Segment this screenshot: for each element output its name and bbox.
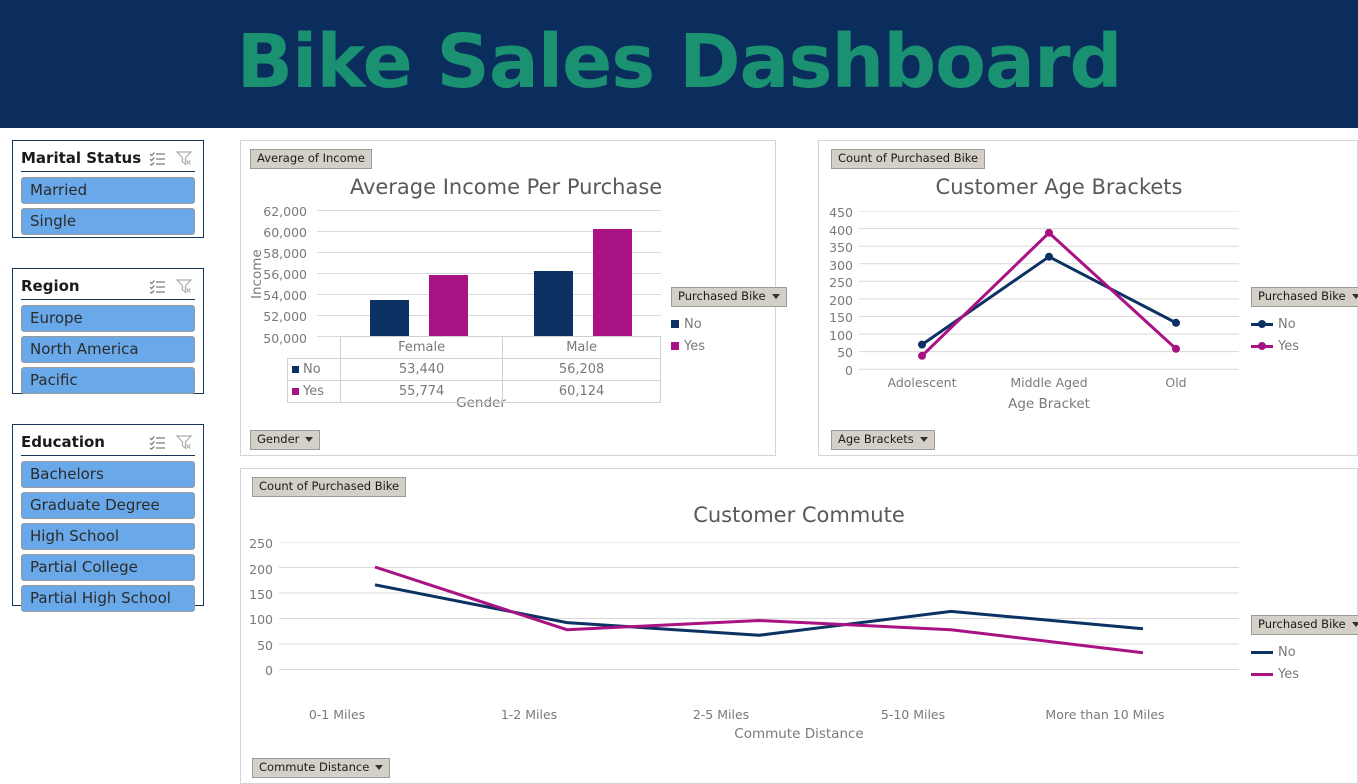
field-button-purchased-bike[interactable]: Purchased Bike	[671, 287, 787, 307]
y-tick-commute-1: 50	[241, 638, 273, 653]
x-axis-title-age: Age Bracket	[919, 396, 1179, 412]
bar-female-no	[370, 300, 409, 336]
series-swatch-yes	[292, 388, 299, 395]
page-title: Bike Sales Dashboard	[0, 14, 1358, 110]
field-button-gender[interactable]: Gender	[250, 430, 320, 450]
y-tick-age-5: 250	[819, 275, 853, 290]
x-tick-commute-3: 5-10 Miles	[853, 707, 973, 722]
chart-panel-commute: Count of Purchased Bike Commute Distance…	[240, 468, 1358, 784]
x-tick-commute-4: More than 10 Miles	[1027, 707, 1183, 722]
dashboard-header: Bike Sales Dashboard	[0, 0, 1358, 128]
y-tick-commute-2: 100	[241, 612, 273, 627]
slicer-item-partial-college[interactable]: Partial College	[21, 554, 195, 581]
slicer-header: Education	[21, 429, 195, 456]
y-tick-income-1: 52,000	[255, 309, 307, 324]
clear-filter-icon[interactable]	[173, 276, 195, 296]
table-key-no: No	[288, 359, 341, 381]
clear-filter-icon[interactable]	[173, 432, 195, 452]
multi-select-icon[interactable]	[147, 432, 169, 452]
y-tick-income-5: 60,000	[255, 225, 307, 240]
field-button-count-of-purchased-bike[interactable]: Count of Purchased Bike	[252, 477, 406, 497]
y-tick-age-6: 300	[819, 258, 853, 273]
multi-select-icon[interactable]	[147, 148, 169, 168]
legend-item-yes[interactable]: Yes	[1251, 663, 1358, 685]
slicer-education[interactable]: Education Bachelors Graduate Degree High…	[12, 424, 204, 606]
field-button-label: Purchased Bike	[678, 290, 766, 303]
field-button-average-of-income[interactable]: Average of Income	[250, 149, 372, 169]
slicer-item-bachelors[interactable]: Bachelors	[21, 461, 195, 488]
legend-age: Purchased Bike No Yes	[1251, 285, 1358, 357]
slicer-item-pacific[interactable]: Pacific	[21, 367, 195, 394]
slicer-item-partial-high-school[interactable]: Partial High School	[21, 585, 195, 612]
plot-area-commute	[279, 542, 1239, 670]
y-tick-age-2: 100	[819, 328, 853, 343]
field-button-label: Age Brackets	[838, 433, 914, 446]
table-cell-no-female: 53,440	[341, 359, 503, 381]
slicer-title: Region	[21, 277, 143, 295]
legend-swatch-no	[1251, 323, 1273, 326]
bar-male-yes	[593, 229, 632, 336]
legend-swatch-yes	[1251, 345, 1273, 348]
table-cell-no-male: 56,208	[503, 359, 661, 381]
x-tick-age-1: Middle Aged	[989, 375, 1109, 390]
field-button-label: Gender	[257, 433, 299, 446]
field-button-purchased-bike[interactable]: Purchased Bike	[1251, 287, 1358, 307]
field-button-count-of-purchased-bike[interactable]: Count of Purchased Bike	[831, 149, 985, 169]
legend-item-no[interactable]: No	[1251, 313, 1358, 335]
legend-swatch-no	[1251, 651, 1273, 654]
y-tick-income-6: 62,000	[255, 204, 307, 219]
chevron-down-icon	[772, 294, 780, 299]
table-header-male: Male	[503, 337, 661, 359]
bar-male-no	[534, 271, 573, 336]
legend-swatch-no	[671, 320, 679, 328]
slicer-header: Marital Status	[21, 145, 195, 172]
chart-title-age: Customer Age Brackets	[859, 175, 1259, 199]
y-tick-age-3: 150	[819, 310, 853, 325]
legend-label-no: No	[1278, 317, 1296, 332]
field-button-label: Purchased Bike	[1258, 618, 1346, 631]
series-swatch-no	[292, 366, 299, 373]
plot-area-age	[859, 211, 1239, 377]
x-tick-age-0: Adolescent	[862, 375, 982, 390]
x-tick-commute-1: 1-2 Miles	[469, 707, 589, 722]
y-tick-age-8: 400	[819, 223, 853, 238]
slicer-item-high-school[interactable]: High School	[21, 523, 195, 550]
slicer-item-north-america[interactable]: North America	[21, 336, 195, 363]
chart-title-commute: Customer Commute	[499, 503, 1099, 527]
x-tick-commute-2: 2-5 Miles	[661, 707, 781, 722]
slicer-title: Education	[21, 433, 143, 451]
slicer-item-single[interactable]: Single	[21, 208, 195, 235]
field-button-purchased-bike[interactable]: Purchased Bike	[1251, 615, 1358, 635]
bar-female-yes	[429, 275, 468, 336]
slicer-item-married[interactable]: Married	[21, 177, 195, 204]
legend-item-no[interactable]: No	[1251, 641, 1358, 663]
y-tick-income-2: 54,000	[255, 288, 307, 303]
y-tick-income-3: 56,000	[255, 267, 307, 282]
x-tick-commute-0: 0-1 Miles	[277, 707, 397, 722]
y-tick-age-9: 450	[819, 205, 853, 220]
table-cell-yes-male: 60,124	[503, 381, 661, 403]
y-tick-commute-4: 200	[241, 562, 273, 577]
legend-label-no: No	[1278, 645, 1296, 660]
field-button-label: Average of Income	[257, 152, 365, 165]
field-button-label: Count of Purchased Bike	[259, 480, 399, 493]
legend-commute: Purchased Bike No Yes	[1251, 613, 1358, 685]
slicer-item-graduate-degree[interactable]: Graduate Degree	[21, 492, 195, 519]
slicer-header: Region	[21, 273, 195, 300]
chevron-down-icon	[920, 437, 928, 442]
legend-label-yes: Yes	[1278, 339, 1299, 354]
chevron-down-icon	[375, 765, 383, 770]
x-tick-age-2: Old	[1116, 375, 1236, 390]
multi-select-icon[interactable]	[147, 276, 169, 296]
y-tick-age-7: 350	[819, 240, 853, 255]
field-button-label: Commute Distance	[259, 761, 369, 774]
field-button-commute-distance[interactable]: Commute Distance	[252, 758, 390, 778]
x-axis-title-commute: Commute Distance	[599, 726, 999, 742]
legend-label-yes: Yes	[684, 339, 705, 354]
legend-label-yes: Yes	[1278, 667, 1299, 682]
chevron-down-icon	[305, 437, 313, 442]
y-tick-commute-0: 0	[241, 663, 273, 678]
table-row: Yes 55,774 60,124	[288, 381, 661, 403]
y-tick-income-4: 58,000	[255, 246, 307, 261]
y-tick-age-1: 50	[819, 345, 853, 360]
legend-item-yes[interactable]: Yes	[671, 335, 787, 357]
chart-panel-income: Average of Income Gender Average Income …	[240, 140, 776, 456]
chart-panel-age: Count of Purchased Bike Age Brackets Cus…	[818, 140, 1358, 456]
table-row: No 53,440 56,208	[288, 359, 661, 381]
table-row-header: Female Male	[288, 337, 661, 359]
slicer-marital-status[interactable]: Marital Status Married Single	[12, 140, 204, 238]
field-button-age-brackets[interactable]: Age Brackets	[831, 430, 935, 450]
legend-label-no: No	[684, 317, 702, 332]
y-tick-commute-5: 250	[241, 536, 273, 551]
legend-item-yes[interactable]: Yes	[1251, 335, 1358, 357]
table-header-female: Female	[341, 337, 503, 359]
gridline	[317, 210, 661, 211]
table-key-yes: Yes	[288, 381, 341, 403]
chart-title-income: Average Income Per Purchase	[271, 175, 741, 199]
clear-filter-icon[interactable]	[173, 148, 195, 168]
table-cell-yes-female: 55,774	[341, 381, 503, 403]
table-corner-cell	[288, 337, 341, 359]
legend-swatch-yes	[1251, 673, 1273, 676]
slicer-title: Marital Status	[21, 149, 143, 167]
legend-item-no[interactable]: No	[671, 313, 787, 335]
slicer-item-europe[interactable]: Europe	[21, 305, 195, 332]
slicer-region[interactable]: Region Europe North America Pacific	[12, 268, 204, 394]
y-tick-commute-3: 150	[241, 587, 273, 602]
chevron-down-icon	[1352, 622, 1358, 627]
legend-swatch-yes	[671, 342, 679, 350]
y-tick-age-0: 0	[819, 363, 853, 378]
field-button-label: Count of Purchased Bike	[838, 152, 978, 165]
chart-data-table-income: Female Male No 53,440 56,208 Yes 55,774 …	[287, 336, 661, 403]
y-tick-age-4: 200	[819, 293, 853, 308]
chevron-down-icon	[1352, 294, 1358, 299]
legend-income: Purchased Bike No Yes	[671, 285, 787, 357]
field-button-label: Purchased Bike	[1258, 290, 1346, 303]
